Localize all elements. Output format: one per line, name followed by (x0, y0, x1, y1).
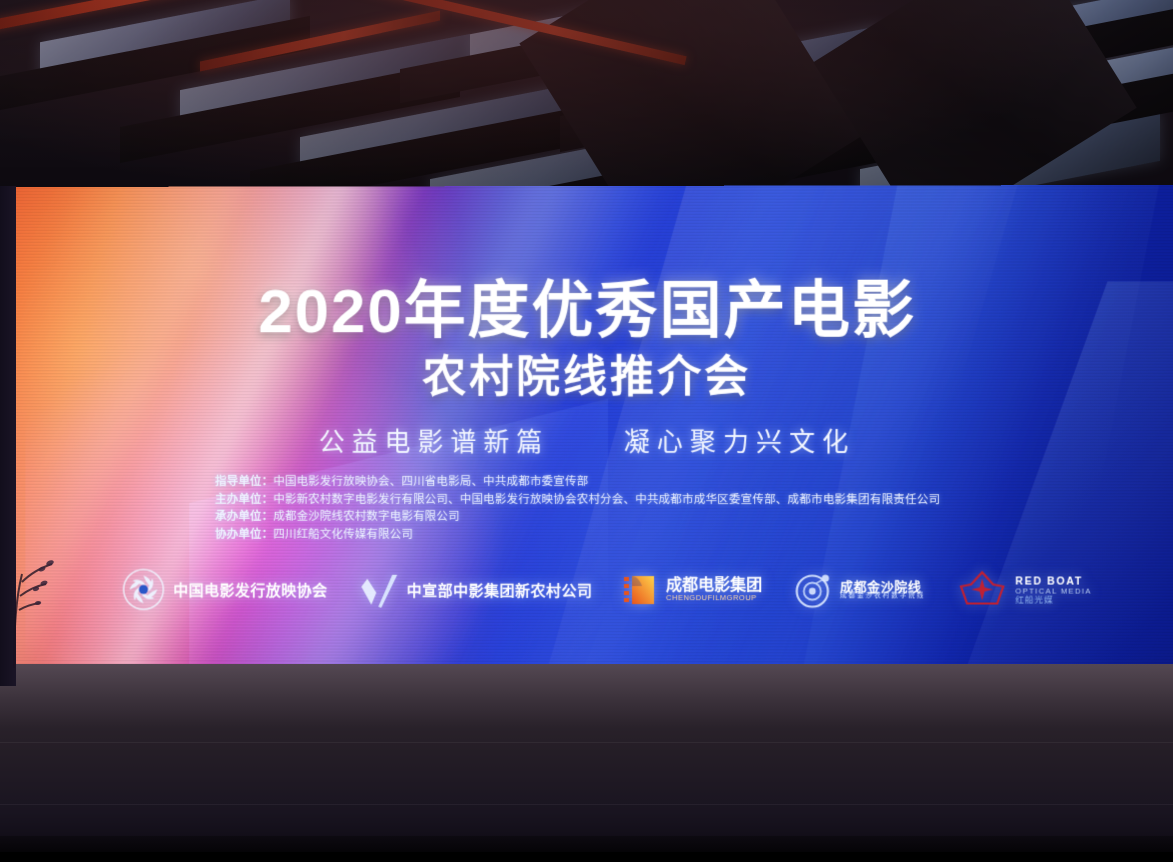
organizer-value: 成都金沙院线农村数字电影有限公司 (273, 511, 460, 523)
film-shutter-pinwheel-icon (122, 568, 166, 612)
backdrop-title-main: 2020年度优秀国产电影 (3, 259, 1173, 350)
red-boat-icon (957, 570, 1007, 610)
organizer-line: 协办单位：四川红船文化传媒有限公司 (215, 527, 1076, 545)
stage-photo-scene: 2020年度优秀国产电影 农村院线推介会 公益电影谱新篇 凝心聚力兴文化 指导单… (0, 0, 1173, 862)
backdrop-slogan: 公益电影谱新篇 凝心聚力兴文化 (3, 422, 1173, 459)
logo-sub-label: 红船光媒 (1015, 596, 1053, 606)
organizer-credits: 指导单位：中国电影发行放映协会、四川省电影局、中共成都市委宣传部 主办单位：中影… (215, 474, 1076, 545)
organizer-value: 中影新农村数字电影发行有限公司、中国电影发行放映协会农村分会、中共成都市成华区委… (273, 493, 940, 505)
logo-sub-label: 成都金沙农村数字院线 (840, 594, 925, 601)
checkmark-swoosh-icon (359, 571, 399, 609)
camera-lens-circle-icon (794, 571, 832, 609)
floor-light-spill (0, 664, 1173, 728)
organizer-line: 主办单位：中影新农村数字电影发行有限公司、中国电影发行放映协会农村分会、中共成都… (215, 491, 1076, 509)
logo-chengdu-jinsha-cinema-line: 成都金沙院线 成都金沙农村数字院线 (794, 571, 926, 609)
logo-label: 中宣部中影集团新农村公司 (407, 579, 593, 600)
led-video-wall: 2020年度优秀国产电影 农村院线推介会 公益电影谱新篇 凝心聚力兴文化 指导单… (3, 185, 1173, 669)
organizer-label: 承办单位： (215, 511, 273, 523)
slogan-left: 公益电影谱新篇 (319, 427, 549, 457)
organizer-line: 承办单位：成都金沙院线农村数字电影有限公司 (215, 509, 1076, 527)
backdrop-title-sub: 农村院线推介会 (3, 341, 1173, 405)
sponsor-logo-row: 中国电影发行放映协会 中宣部中影集团新农村公司 (122, 564, 1092, 617)
logo-chengdu-film-group: 成都电影集团 CHENGDUFILMGROUP (624, 572, 762, 608)
floor-seam (0, 804, 1173, 805)
floor-seam (0, 742, 1173, 743)
organizer-label: 协办单位： (215, 528, 273, 540)
coffered-ceiling (0, 0, 1173, 200)
stage-floor (0, 664, 1173, 862)
logo-label: 成都电影集团 (666, 578, 762, 594)
logo-cfdea: 中国电影发行放映协会 (122, 568, 328, 612)
backdrop-content: 2020年度优秀国产电影 农村院线推介会 公益电影谱新篇 凝心聚力兴文化 指导单… (3, 185, 1173, 669)
organizer-label: 主办单位： (215, 493, 273, 505)
potted-plant-silhouette (0, 548, 70, 668)
organizer-value: 四川红船文化传媒有限公司 (273, 529, 413, 541)
logo-red-boat-optical-media: RED BOAT OPTICAL MEDIA 红船光媒 (957, 570, 1092, 610)
logo-zhongying-xinnongcun: 中宣部中影集团新农村公司 (359, 571, 593, 609)
orange-filmstrip-icon (624, 572, 658, 608)
organizer-value: 中国电影发行放映协会、四川省电影局、中共成都市委宣传部 (273, 476, 588, 488)
logo-label: 中国电影发行放映协会 (173, 579, 327, 600)
photo-bottom-border (0, 852, 1173, 862)
slogan-right: 凝心聚力兴文化 (624, 427, 856, 457)
logo-english: CHENGDUFILMGROUP (666, 594, 762, 602)
organizer-line: 指导单位：中国电影发行放映协会、四川省电影局、中共成都市委宣传部 (215, 474, 1076, 492)
organizer-label: 指导单位： (215, 476, 273, 488)
